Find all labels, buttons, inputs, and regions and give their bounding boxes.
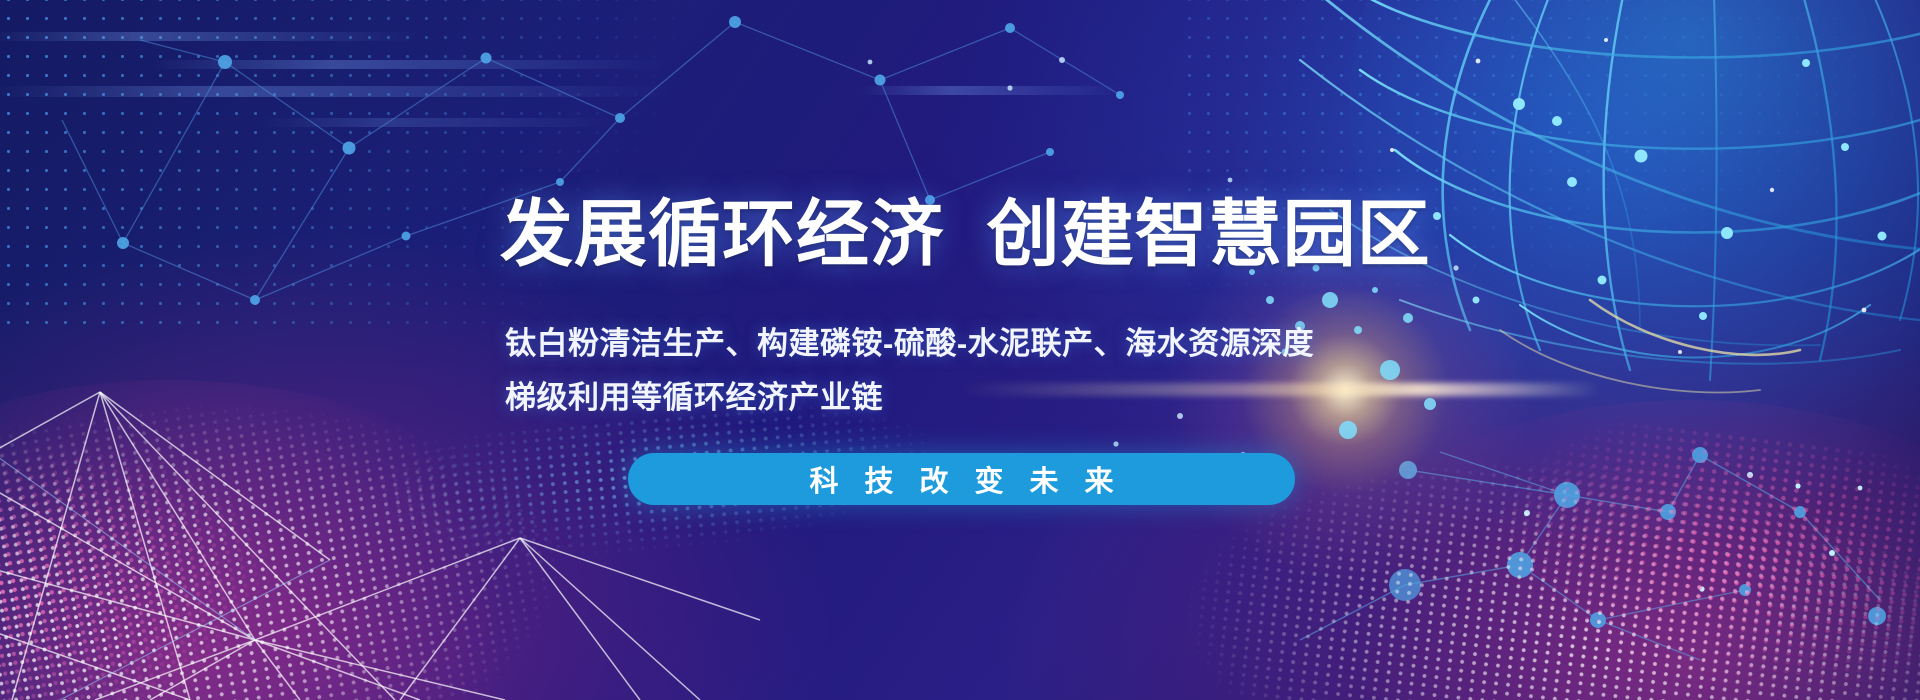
subtitle-line-2: 梯级利用等循环经济产业链	[505, 372, 883, 417]
cta-button-label: 科技改变未来	[783, 458, 1139, 500]
page-title: 发展循环经济 创建智慧园区	[500, 198, 1431, 272]
banner-content: 发展循环经济 创建智慧园区 钛白粉清洁生产、构建磷铵-硫酸-水泥联产、海水资源深…	[0, 0, 1920, 700]
hero-banner: 发展循环经济 创建智慧园区 钛白粉清洁生产、构建磷铵-硫酸-水泥联产、海水资源深…	[0, 0, 1920, 700]
cta-button[interactable]: 科技改变未来	[628, 453, 1295, 505]
subtitle-line-1: 钛白粉清洁生产、构建磷铵-硫酸-水泥联产、海水资源深度	[505, 318, 1314, 363]
